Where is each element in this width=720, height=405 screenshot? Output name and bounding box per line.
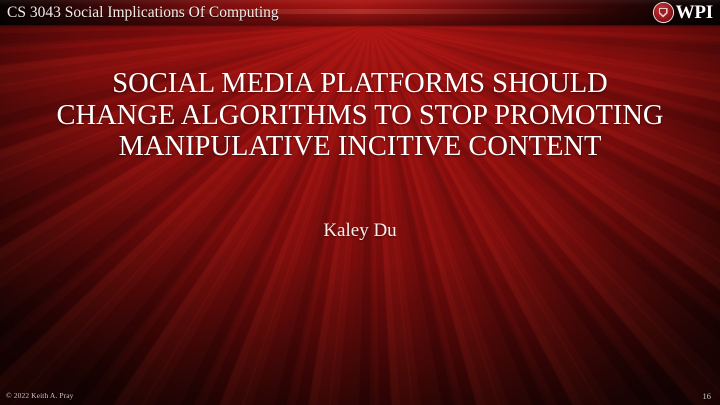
copyright-label: © 2022 Keith A. Pray (6, 391, 74, 401)
slide-title: SOCIAL MEDIA PLATFORMS SHOULD CHANGE ALG… (52, 68, 668, 163)
presentation-slide: CS 3043 Social Implications Of Computing… (0, 0, 720, 405)
slide-content: SOCIAL MEDIA PLATFORMS SHOULD CHANGE ALG… (0, 0, 720, 405)
slide-subtitle-author: Kaley Du (52, 219, 668, 243)
page-number-label: 16 (703, 391, 712, 401)
